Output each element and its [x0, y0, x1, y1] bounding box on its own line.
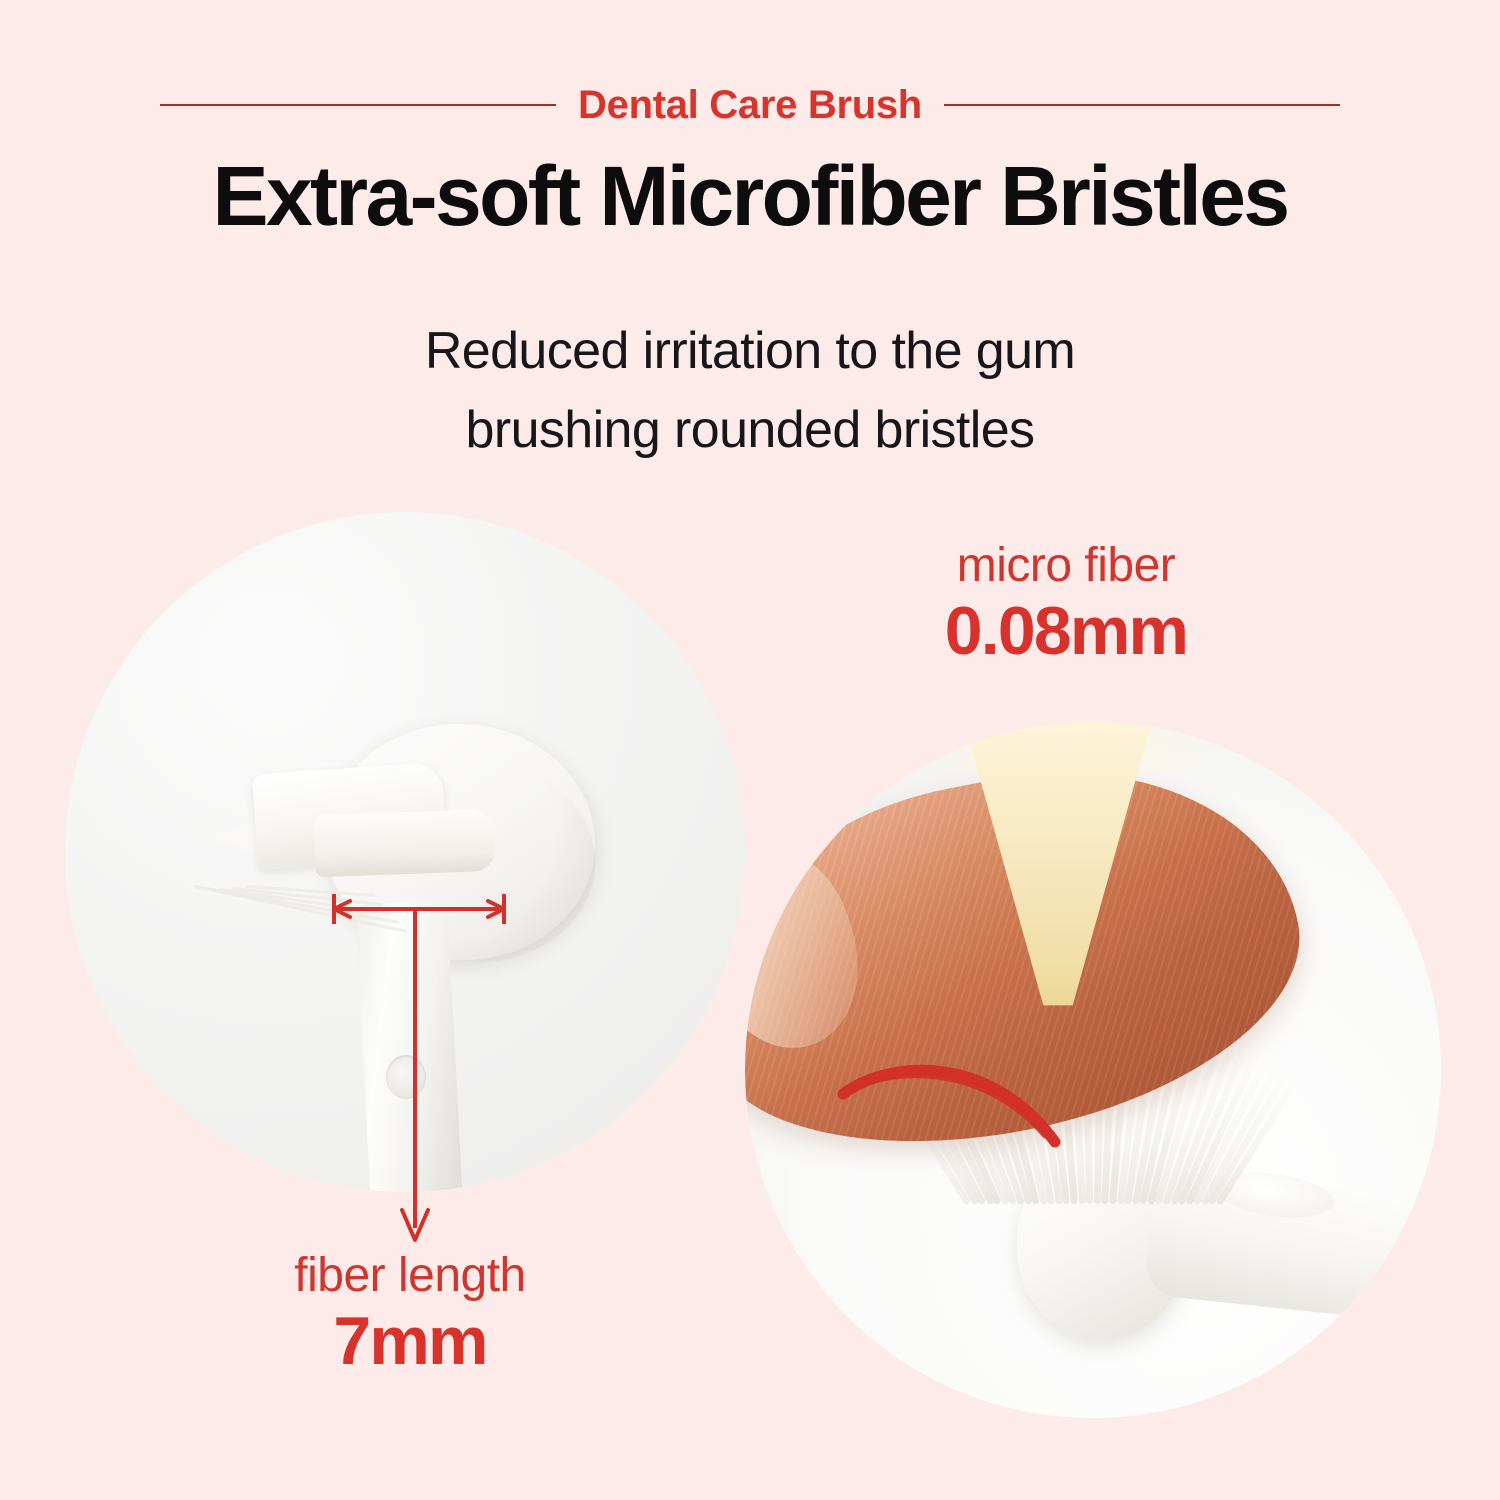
- brush-head-photo: [65, 512, 745, 1192]
- soft-flex-arc-icon: [745, 722, 1441, 1418]
- subtitle-line-2: brushing rounded bristles: [0, 391, 1500, 470]
- eyebrow-row: Dental Care Brush: [0, 78, 1500, 132]
- fiber-length-callout-value: 7mm: [200, 1303, 620, 1379]
- microfiber-callout-value: 0.08mm: [856, 593, 1276, 669]
- page-title: Extra-soft Microfiber Bristles: [0, 152, 1500, 240]
- microfiber-callout-label: micro fiber: [856, 540, 1276, 593]
- microfiber-callout: micro fiber 0.08mm: [856, 540, 1276, 669]
- eyebrow-text: Dental Care Brush: [578, 85, 922, 125]
- page-subtitle: Reduced irritation to the gum brushing r…: [0, 312, 1500, 470]
- measure-arrowhead-down: [402, 1210, 428, 1240]
- fiber-length-callout-label: fiber length: [200, 1250, 620, 1303]
- poster-canvas: Dental Care Brush Extra-soft Microfiber …: [0, 0, 1500, 1500]
- subtitle-line-1: Reduced irritation to the gum: [0, 312, 1500, 391]
- bristle-band-lower: [314, 809, 496, 877]
- handle-dimple: [386, 1055, 426, 1099]
- fingertip-photo: [745, 722, 1441, 1418]
- eyebrow-rule-left: [160, 104, 556, 106]
- brush-handle: [355, 900, 463, 1192]
- fiber-length-callout: fiber length 7mm: [200, 1250, 620, 1379]
- eyebrow-rule-right: [944, 104, 1340, 106]
